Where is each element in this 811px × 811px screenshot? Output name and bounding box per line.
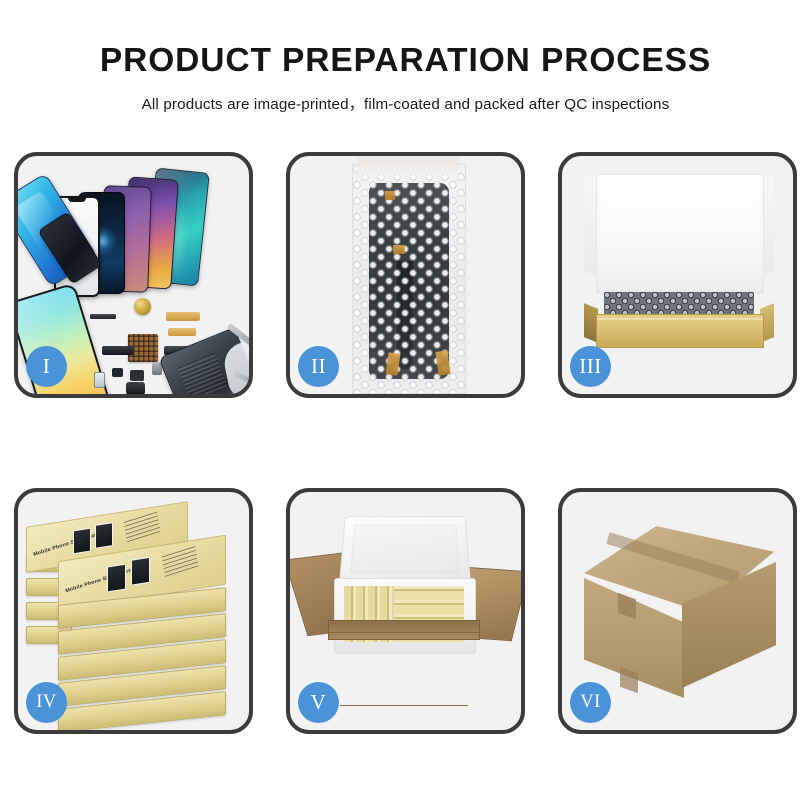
phone-notch bbox=[68, 198, 86, 202]
step-card-ii: II bbox=[286, 152, 525, 398]
flex-cable-gold-a bbox=[166, 312, 200, 321]
bubble-wrap-bag bbox=[352, 164, 466, 394]
step-card-iv: Mobile Phone Spare Parts Mobile Phone Sp… bbox=[14, 488, 253, 734]
earpiece-speaker-part bbox=[90, 314, 116, 319]
bag-top-seal bbox=[356, 156, 460, 174]
small-connector-b bbox=[130, 370, 144, 381]
step-card-v: V bbox=[286, 488, 525, 734]
step-badge-ii: II bbox=[298, 346, 339, 387]
step-badge-iv: IV bbox=[26, 682, 67, 723]
flex-cable-dark-a bbox=[102, 346, 134, 355]
process-steps-grid: I II bbox=[14, 152, 797, 734]
foam-sheet bbox=[600, 214, 760, 290]
box-print-screen-rear-a bbox=[73, 528, 91, 555]
box-print-text-rear bbox=[123, 511, 160, 543]
step-badge-vi: VI bbox=[570, 682, 611, 723]
box-print-screen-front-b bbox=[131, 557, 150, 586]
loudspeaker-module bbox=[126, 382, 145, 394]
box-print-screen-front-a bbox=[107, 564, 126, 593]
step-badge-i: I bbox=[26, 346, 67, 387]
step-card-i: I bbox=[14, 152, 253, 398]
page-header: PRODUCT PREPARATION PROCESS All products… bbox=[0, 0, 811, 114]
tape-strip-middle bbox=[393, 245, 405, 254]
box-print-screen-rear-b bbox=[95, 522, 113, 549]
carton-body bbox=[328, 632, 480, 706]
box-print-text-front bbox=[161, 545, 198, 577]
page-subtitle: All products are image-printed，film-coat… bbox=[0, 92, 811, 114]
box-front-panel bbox=[596, 314, 764, 348]
small-connector-a bbox=[112, 368, 123, 377]
retail-box-label-rear: Mobile Phone Spare Parts bbox=[33, 531, 102, 558]
tape-strip-top bbox=[385, 191, 395, 200]
step-badge-v: V bbox=[298, 682, 339, 723]
step-badge-iii: III bbox=[570, 346, 611, 387]
page-title: PRODUCT PREPARATION PROCESS bbox=[0, 44, 811, 78]
step-card-vi: VI bbox=[558, 488, 797, 734]
battery-connector-part bbox=[94, 372, 105, 388]
flex-cable-gold-b bbox=[168, 328, 196, 336]
styrofoam-lid bbox=[339, 516, 471, 583]
product-preparation-page: PRODUCT PREPARATION PROCESS All products… bbox=[0, 0, 811, 114]
vibration-motor-part bbox=[134, 298, 151, 315]
step-card-iii: III bbox=[558, 152, 797, 398]
